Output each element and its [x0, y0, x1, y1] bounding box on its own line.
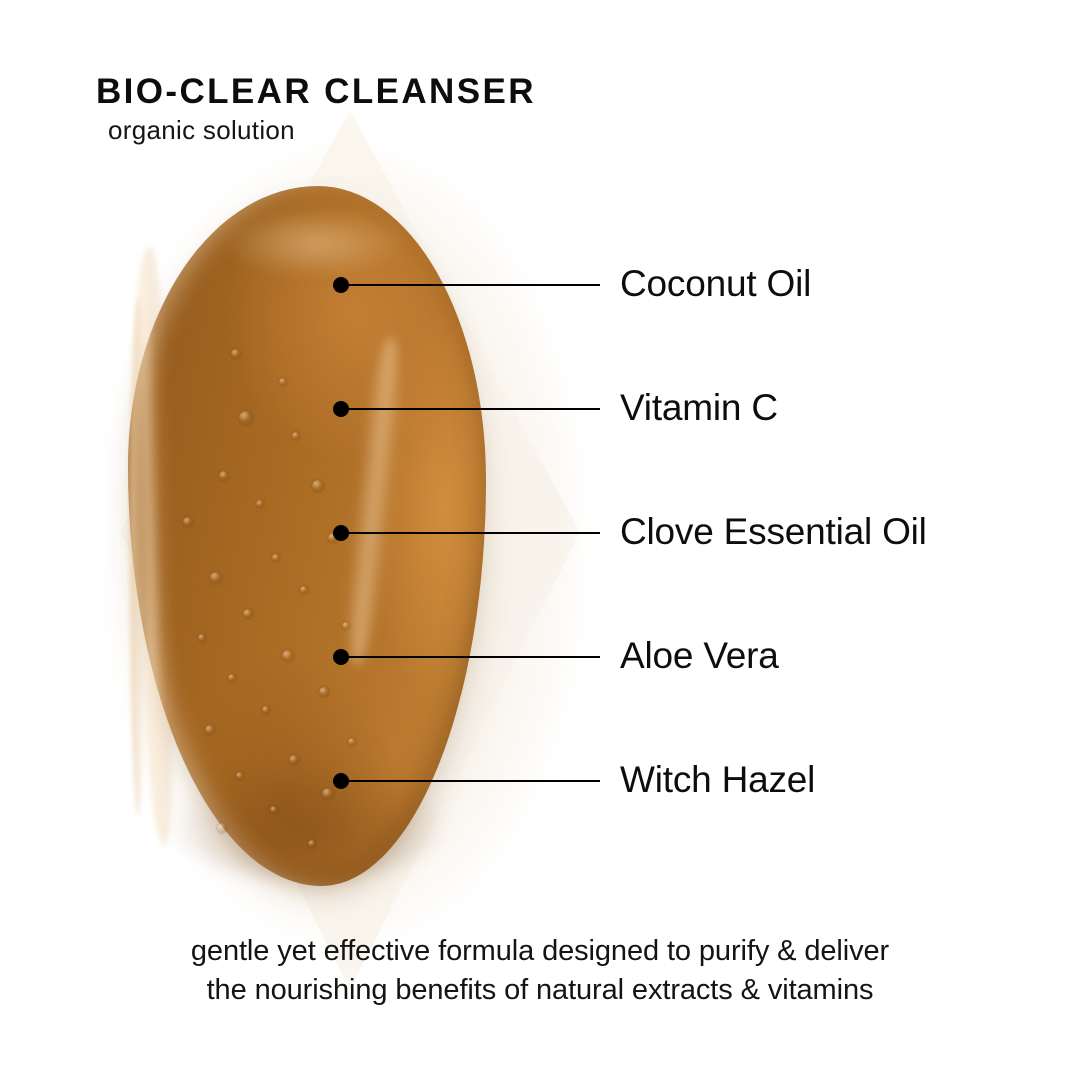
gel-bubble: [236, 772, 244, 780]
footer-caption-line-1: gentle yet effective formula designed to…: [0, 932, 1080, 971]
callout-label: Coconut Oil: [620, 263, 811, 305]
gel-rim-highlight-left-inner: [130, 296, 146, 816]
gel-bubble: [319, 687, 329, 697]
callout-label: Aloe Vera: [620, 635, 779, 677]
gel-bubble: [183, 517, 193, 527]
gel-swatch: [128, 186, 500, 892]
callout-label: Clove Essential Oil: [620, 511, 927, 553]
gel-bubble: [348, 738, 356, 746]
callout-leader-line: [341, 780, 600, 782]
gel-bubble: [279, 378, 287, 386]
gel-bubble: [228, 674, 236, 682]
page-title: BIO-CLEAR CLEANSER: [96, 72, 536, 112]
footer-caption-line-2: the nourishing benefits of natural extra…: [0, 971, 1080, 1010]
gel-bubble: [312, 480, 324, 492]
gel-bubble: [292, 432, 300, 440]
gel-shadow-bottom: [168, 760, 448, 880]
callout-label: Witch Hazel: [620, 759, 815, 801]
product-ingredient-infographic: BIO-CLEAR CLEANSER organic solution Coco…: [0, 0, 1080, 1080]
gel-bubble: [198, 634, 206, 642]
callout-leader-line: [341, 408, 600, 410]
gel-bubble: [256, 500, 264, 508]
gel-gloss-top: [220, 208, 410, 278]
gel-bubble: [300, 586, 308, 594]
page-subtitle: organic solution: [108, 115, 295, 146]
gel-bubble: [217, 823, 227, 833]
gel-bubble: [231, 349, 241, 359]
footer-caption: gentle yet effective formula designed to…: [0, 932, 1080, 1010]
gel-bubble: [289, 755, 299, 765]
gel-bubble: [342, 622, 350, 630]
callout-label: Vitamin C: [620, 387, 778, 429]
gel-bubble: [282, 650, 294, 662]
callout-leader-line: [341, 532, 600, 534]
callout-leader-line: [341, 284, 600, 286]
gel-bubble: [272, 554, 280, 562]
gel-bubble: [322, 788, 334, 800]
gel-bubble: [219, 471, 229, 481]
gel-bubble: [210, 572, 222, 584]
gel-bubble: [270, 806, 278, 814]
gel-bubble: [205, 725, 215, 735]
callout-leader-line: [341, 656, 600, 658]
gel-bubble: [239, 411, 253, 425]
gel-bubble: [262, 706, 270, 714]
gel-bubble: [243, 609, 253, 619]
gel-bubble: [308, 840, 316, 848]
